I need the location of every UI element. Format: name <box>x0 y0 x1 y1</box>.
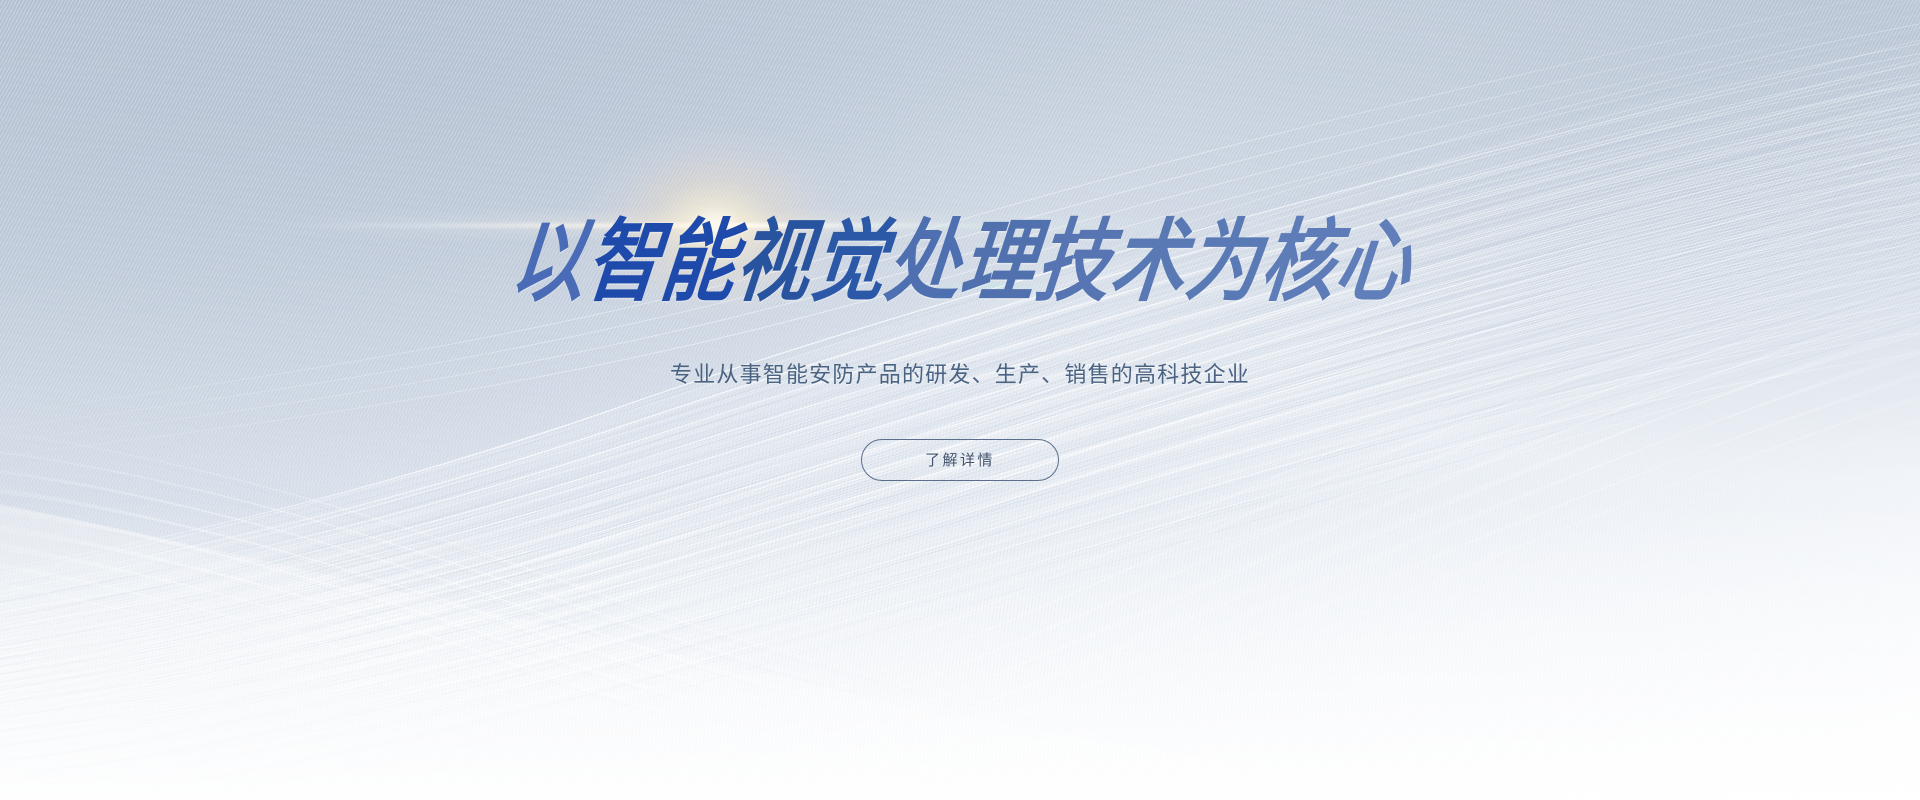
headline-char-10: 核 <box>1256 218 1340 308</box>
learn-more-button[interactable]: 了解详情 <box>861 439 1059 481</box>
wave-wash-upper <box>0 20 1920 800</box>
headline-char-3: 视 <box>731 218 815 308</box>
hero-content: 以智能视觉处理技术为核心 专业从事智能安防产品的研发、生产、销售的高科技企业 了… <box>0 0 1920 800</box>
headline-char-2: 能 <box>656 218 740 308</box>
wave-wash-lower <box>0 500 1920 800</box>
diagonal-hatch-texture-2 <box>0 0 1920 800</box>
headline-char-5: 处 <box>881 218 965 308</box>
wave-background-art <box>0 0 1920 800</box>
headline-char-11: 心 <box>1331 218 1415 308</box>
headline-char-7: 技 <box>1031 218 1115 308</box>
page-title: 以智能视觉处理技术为核心 <box>505 232 1414 308</box>
headline-char-6: 理 <box>956 218 1040 308</box>
hero-subtitle: 专业从事智能安防产品的研发、生产、销售的高科技企业 <box>670 360 1250 391</box>
headline-char-8: 术 <box>1106 218 1190 308</box>
bottom-fade-overlay <box>0 500 1920 800</box>
headline-char-0: 以 <box>506 218 590 308</box>
hero-banner: 以智能视觉处理技术为核心 专业从事智能安防产品的研发、生产、销售的高科技企业 了… <box>0 0 1920 800</box>
headline-char-9: 为 <box>1181 218 1265 308</box>
headline-char-1: 智 <box>581 218 665 308</box>
diagonal-hatch-texture <box>0 0 1920 800</box>
headline-char-4: 觉 <box>806 218 890 308</box>
wave-line-bundles <box>0 0 1920 800</box>
wave-moire-fans <box>0 20 1920 800</box>
